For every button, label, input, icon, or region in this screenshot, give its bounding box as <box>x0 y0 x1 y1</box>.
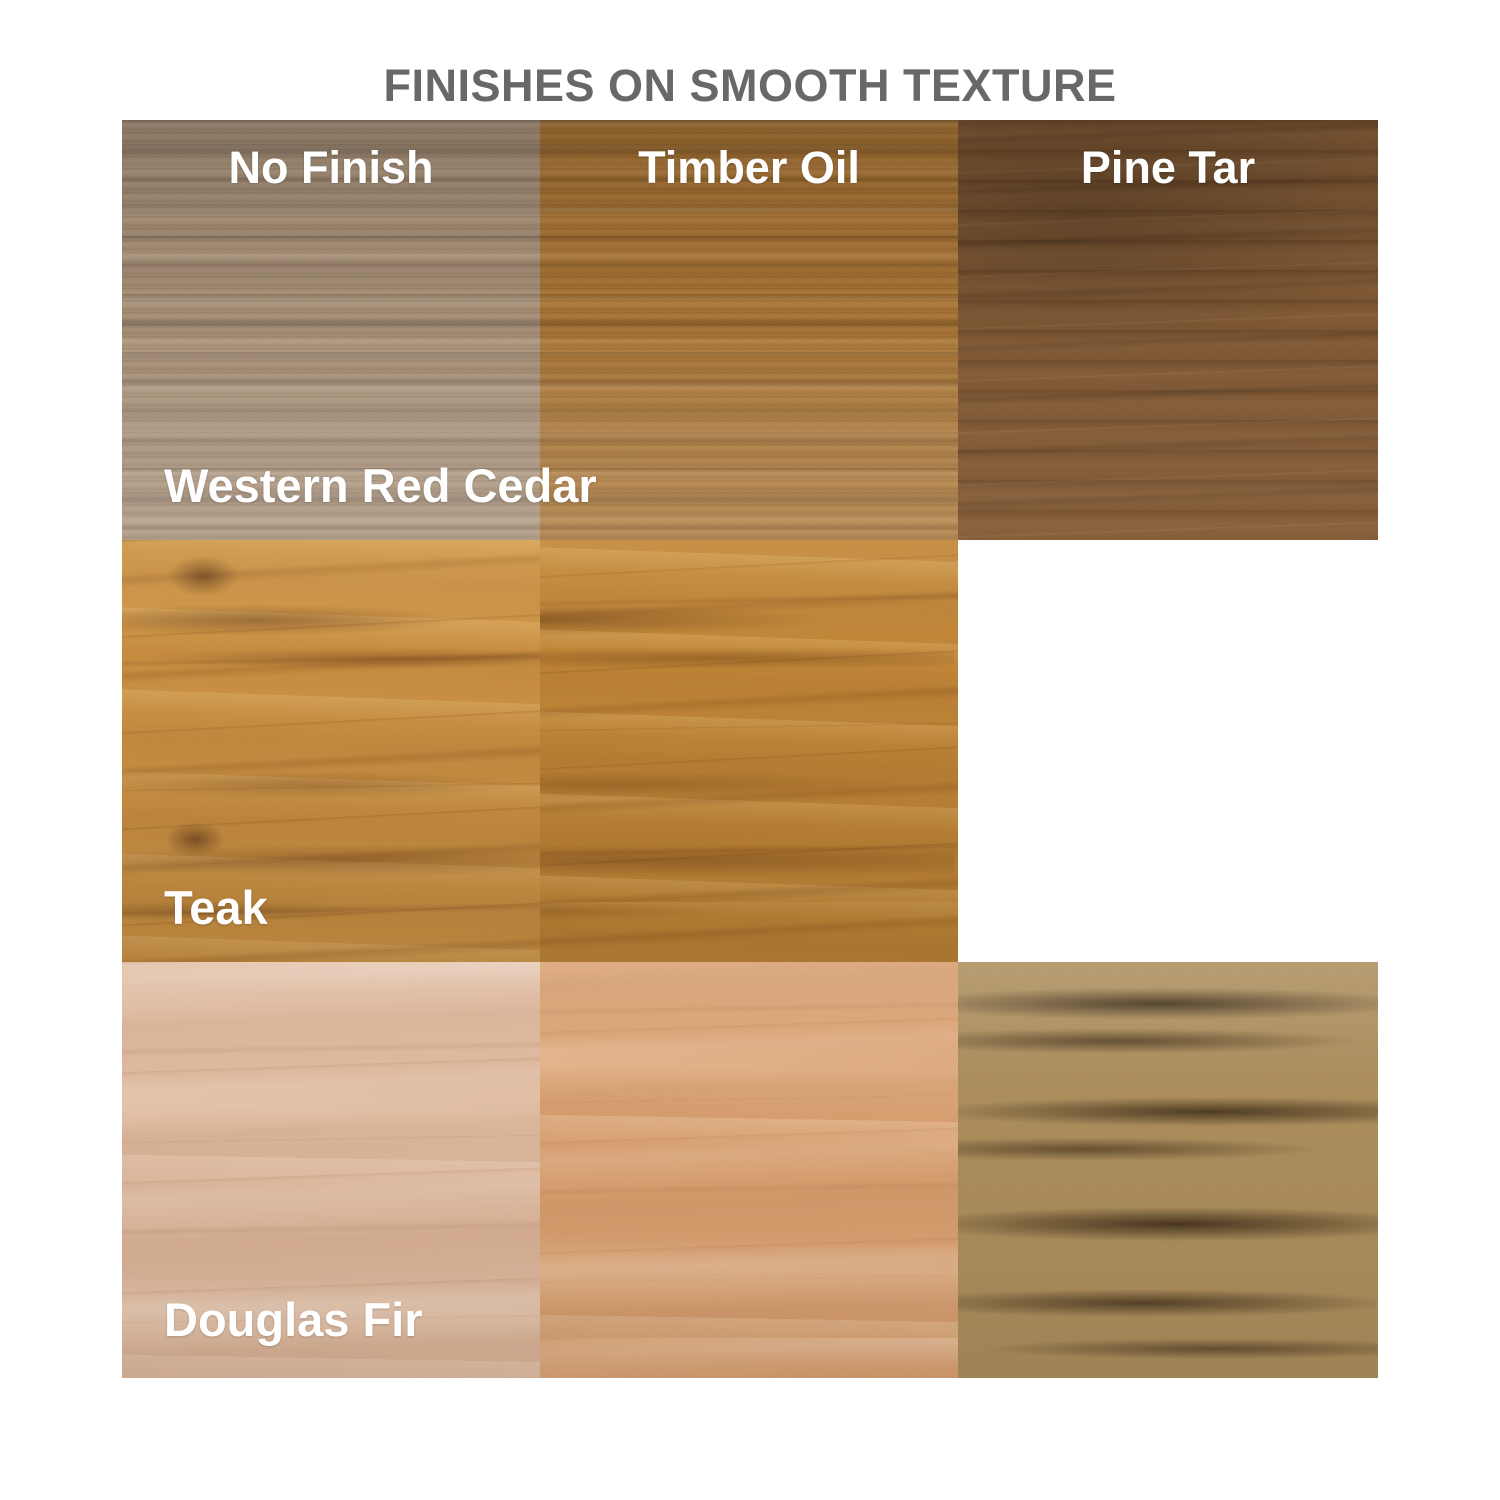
wood-shading-overlay <box>540 120 958 540</box>
wood-shading-overlay <box>958 962 1378 1378</box>
swatch-teak-timber-oil[interactable] <box>540 540 958 962</box>
finish-comparison-grid: No Finish Timber Oil Pine Tar Western Re… <box>122 120 1378 1378</box>
swatch-teak-no-finish[interactable] <box>122 540 540 962</box>
swatch-western-red-cedar-timber-oil[interactable]: Timber Oil <box>540 120 958 540</box>
swatch-douglas-fir-timber-oil[interactable] <box>540 962 958 1378</box>
swatch-western-red-cedar-pine-tar[interactable]: Pine Tar <box>958 120 1378 540</box>
wood-shading-overlay <box>122 540 540 962</box>
wood-shading-overlay <box>122 962 540 1378</box>
swatch-western-red-cedar-no-finish[interactable]: No Finish <box>122 120 540 540</box>
swatch-teak-pine-tar-empty <box>958 540 1378 962</box>
page-title: FINISHES ON SMOOTH TEXTURE <box>0 60 1500 112</box>
wood-shading-overlay <box>958 120 1378 540</box>
wood-shading-overlay <box>540 540 958 962</box>
swatch-douglas-fir-no-finish[interactable] <box>122 962 540 1378</box>
swatch-douglas-fir-pine-tar[interactable] <box>958 962 1378 1378</box>
wood-shading-overlay <box>122 120 540 540</box>
wood-shading-overlay <box>540 962 958 1378</box>
